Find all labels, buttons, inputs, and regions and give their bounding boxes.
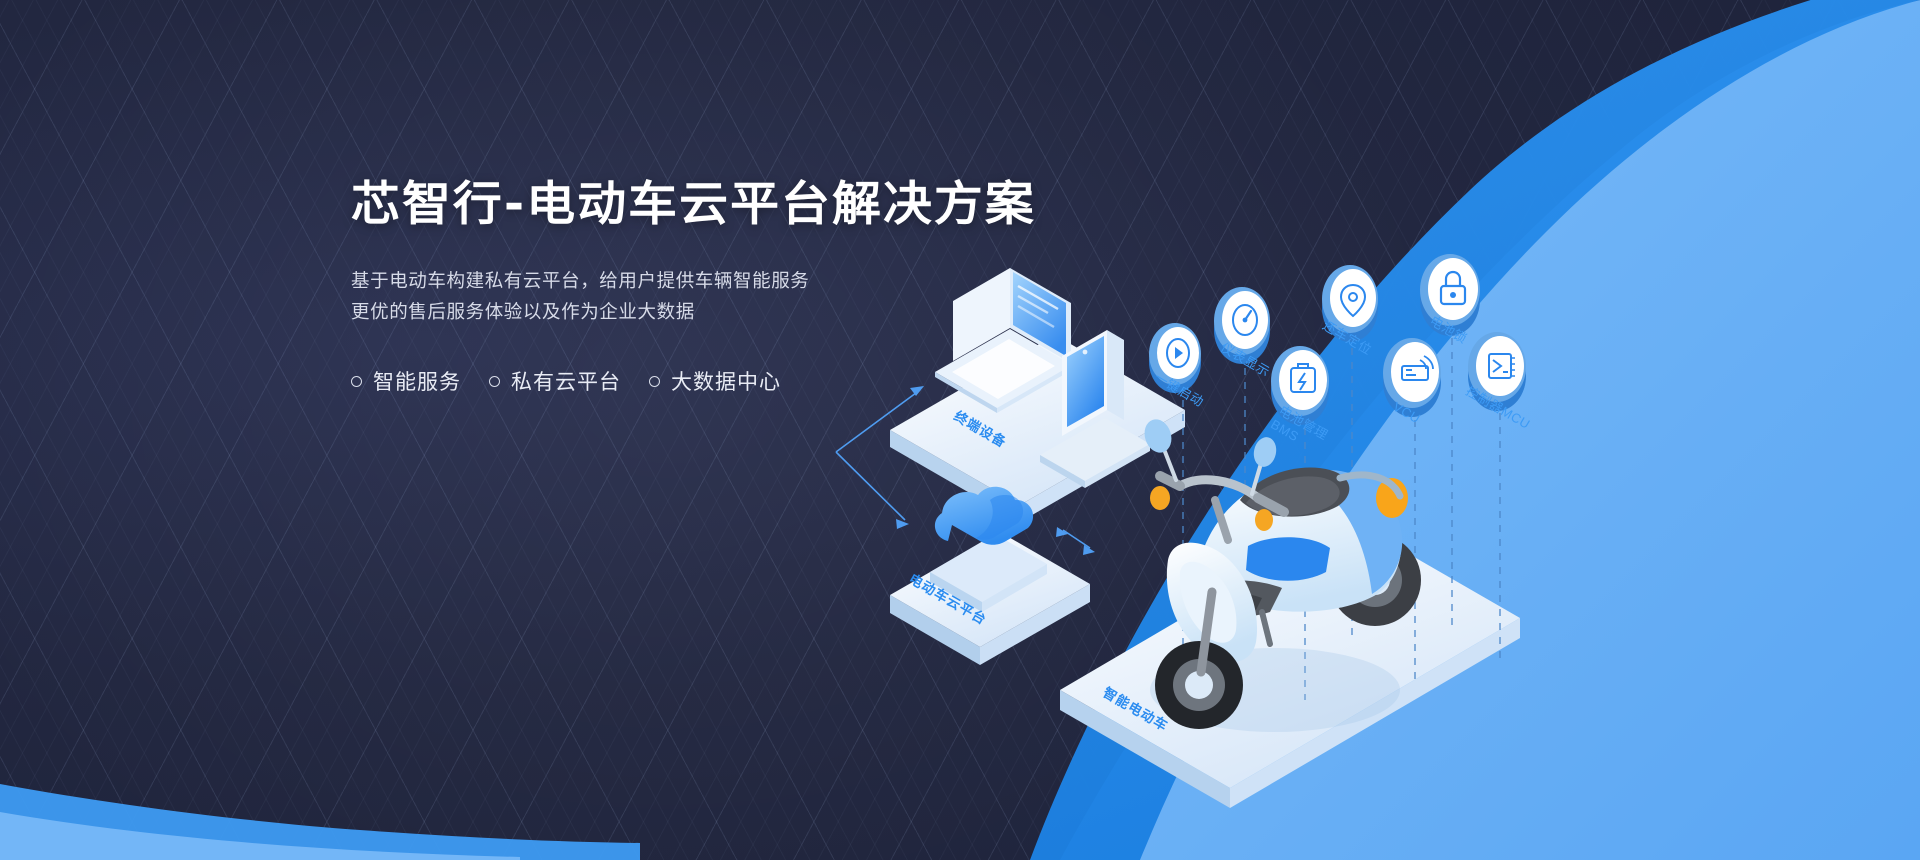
page-title: 芯智行-电动车云平台解决方案 — [351, 178, 1141, 233]
circle-outline-icon — [489, 376, 500, 387]
feature-label: 私有云平台 — [511, 366, 621, 396]
solution-banner: 芯智行-电动车云平台解决方案 基于电动车构建私有云平台，给用户提供车辆智能服务 … — [0, 0, 1920, 860]
feature-list: 智能服务 私有云平台 大数据中心 — [351, 366, 1111, 396]
electric-scooter — [1140, 416, 1421, 732]
feature-label: 智能服务 — [373, 366, 461, 396]
subtitle: 基于电动车构建私有云平台，给用户提供车辆智能服务 更优的售后服务体验以及作为企业… — [351, 265, 1111, 329]
subtitle-line-2: 更优的售后服务体验以及作为企业大数据 — [351, 301, 695, 322]
node-vcu — [1383, 338, 1441, 417]
feature-item-bigdata-center[interactable]: 大数据中心 — [649, 366, 781, 396]
feature-item-smart-service[interactable]: 智能服务 — [351, 366, 461, 396]
circle-outline-icon — [649, 376, 660, 387]
circle-outline-icon — [351, 376, 362, 387]
feature-label: 大数据中心 — [671, 366, 781, 396]
feature-item-private-cloud[interactable]: 私有云平台 — [489, 366, 621, 396]
isometric-illustration — [0, 0, 1920, 860]
subtitle-line-1: 基于电动车构建私有云平台，给用户提供车辆智能服务 — [351, 270, 809, 291]
copy-block: 芯智行-电动车云平台解决方案 基于电动车构建私有云平台，给用户提供车辆智能服务 … — [351, 178, 1111, 396]
